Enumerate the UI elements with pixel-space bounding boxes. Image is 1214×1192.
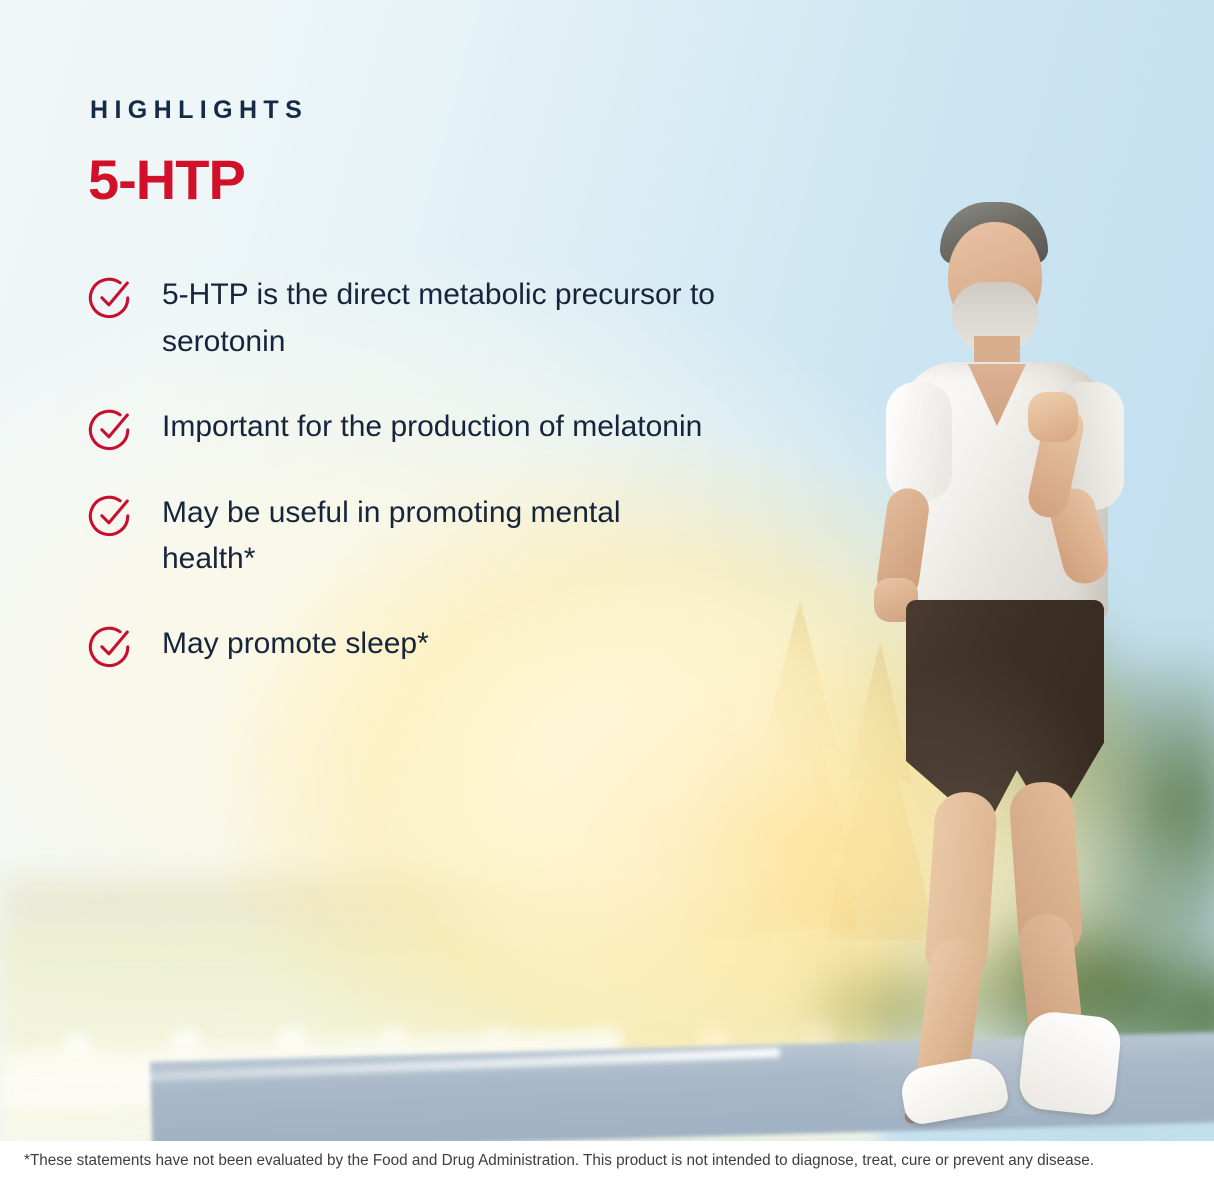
- runner-fist-right: [1028, 392, 1078, 442]
- list-item: 5-HTP is the direct metabolic precursor …: [88, 272, 728, 366]
- list-item-label: Important for the production of melatoni…: [162, 404, 702, 451]
- page-title: 5-HTP: [88, 152, 245, 208]
- highlights-list: 5-HTP is the direct metabolic precursor …: [88, 272, 728, 669]
- list-item: May promote sleep*: [88, 621, 728, 669]
- runner-figure: [856, 196, 1156, 1116]
- runner-shoe-left: [898, 1053, 1010, 1126]
- list-item: Important for the production of melatoni…: [88, 404, 728, 452]
- list-item-label: 5-HTP is the direct metabolic precursor …: [162, 272, 722, 366]
- runner-shorts: [906, 600, 1104, 830]
- list-item: May be useful in promoting mental health…: [88, 490, 728, 584]
- list-item-label: May promote sleep*: [162, 621, 429, 668]
- highlights-panel: HIGHLIGHTS 5-HTP 5-HTP is the direct met…: [0, 0, 1214, 1192]
- check-circle-icon: [88, 492, 134, 538]
- check-circle-icon: [88, 274, 134, 320]
- runner-shoe-right: [1017, 1009, 1123, 1116]
- fda-disclaimer: *These statements have not been evaluate…: [24, 1152, 1186, 1170]
- runner-sleeve-left: [886, 382, 952, 502]
- section-eyebrow: HIGHLIGHTS: [90, 96, 308, 125]
- check-circle-icon: [88, 623, 134, 669]
- check-circle-icon: [88, 406, 134, 452]
- list-item-label: May be useful in promoting mental health…: [162, 490, 722, 584]
